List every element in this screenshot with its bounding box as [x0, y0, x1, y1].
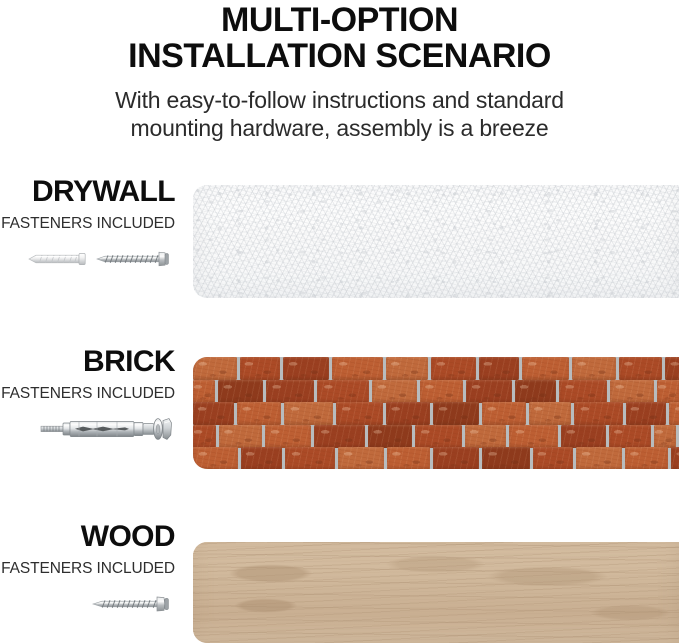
- brick-unit: [610, 380, 654, 403]
- brick-unit: [237, 402, 281, 425]
- brick-unit: [415, 425, 462, 448]
- brick-unit: [193, 402, 234, 425]
- wood-surface-panel: [193, 542, 679, 643]
- brick-unit: [572, 357, 616, 380]
- screw-icon: [95, 250, 173, 268]
- brick-unit: [626, 402, 666, 425]
- brick-unit: [368, 425, 412, 448]
- page-title: MULTI-OPTION INSTALLATION SCENARIO: [0, 2, 679, 74]
- brick-surface-panel: [193, 357, 679, 469]
- header-block: MULTI-OPTION INSTALLATION SCENARIO With …: [0, 0, 679, 142]
- brick-row: [193, 402, 679, 425]
- brick-unit: [665, 357, 679, 380]
- brick-unit: [240, 357, 280, 380]
- sleeve-anchor-bolt-icon: [39, 416, 173, 442]
- brick-unit: [576, 447, 622, 469]
- brick-unit: [671, 447, 679, 469]
- wood-title: WOOD: [0, 520, 175, 554]
- brick-unit: [522, 357, 570, 380]
- brick-unit: [241, 447, 282, 469]
- brick-row: [193, 447, 679, 469]
- brick-unit: [219, 425, 262, 448]
- drywall-texture: [193, 185, 679, 298]
- brick-unit: [218, 380, 263, 403]
- brick-unit: [193, 447, 238, 469]
- brick-unit: [338, 447, 385, 469]
- brick-unit: [314, 425, 366, 448]
- brick-unit: [465, 425, 506, 448]
- wood-fastener-row: [0, 589, 175, 619]
- drywall-title: DRYWALL: [0, 175, 175, 209]
- brick-unit: [574, 402, 623, 425]
- brick-unit: [285, 447, 334, 469]
- section-brick: BRICK FASTENERS INCLUDED: [0, 345, 679, 480]
- brick-unit: [265, 425, 311, 448]
- brick-unit: [433, 447, 479, 469]
- brick-fastener-row: [0, 414, 175, 444]
- drywall-fastener-row: [0, 244, 175, 274]
- brick-unit: [529, 402, 571, 425]
- brick-unit: [609, 425, 651, 448]
- brick-row: [193, 425, 679, 448]
- brick-unit: [479, 357, 518, 380]
- section-wood: WOOD FASTENERS INCLUDED: [0, 520, 679, 643]
- brick-unit: [386, 402, 429, 425]
- brick-unit: [509, 425, 557, 448]
- brick-row: [193, 380, 679, 403]
- brick-unit: [372, 380, 417, 403]
- section-drywall: DRYWALL FASTENERS INCLUDED: [0, 175, 679, 310]
- title-line-2: INSTALLATION SCENARIO: [0, 38, 679, 74]
- wood-fasteners-note: FASTENERS INCLUDED: [0, 559, 175, 578]
- wood-texture: [193, 542, 679, 643]
- brick-title: BRICK: [0, 345, 175, 379]
- brick-fasteners-note: FASTENERS INCLUDED: [0, 384, 175, 403]
- brick-unit: [669, 402, 679, 425]
- wall-anchor-icon: [27, 250, 89, 268]
- brick-unit: [654, 425, 676, 448]
- brick-unit: [561, 425, 606, 448]
- brick-unit: [193, 425, 216, 448]
- brick-unit: [466, 380, 513, 403]
- drywall-surface-panel: [193, 185, 679, 298]
- brick-label-column: BRICK FASTENERS INCLUDED: [0, 345, 178, 444]
- brick-unit: [559, 380, 607, 403]
- brick-unit: [482, 447, 530, 469]
- brick-texture: [193, 357, 679, 469]
- brick-unit: [657, 380, 679, 403]
- subtitle-line-1: With easy-to-follow instructions and sta…: [0, 86, 679, 114]
- brick-unit: [317, 380, 369, 403]
- brick-unit: [387, 447, 430, 469]
- brick-unit: [332, 357, 383, 380]
- subtitle-line-2: mounting hardware, assembly is a breeze: [0, 114, 679, 142]
- page-subtitle: With easy-to-follow instructions and sta…: [0, 86, 679, 142]
- brick-unit: [266, 380, 314, 403]
- brick-unit: [431, 357, 477, 380]
- brick-unit: [193, 357, 237, 380]
- brick-unit: [533, 447, 573, 469]
- brick-unit: [336, 402, 383, 425]
- brick-unit: [515, 380, 556, 403]
- brick-unit: [625, 447, 669, 469]
- drywall-label-column: DRYWALL FASTENERS INCLUDED: [0, 175, 178, 274]
- brick-unit: [193, 380, 215, 403]
- brick-row: [193, 357, 679, 380]
- screw-icon: [91, 595, 173, 613]
- brick-unit: [386, 357, 428, 380]
- brick-unit: [482, 402, 527, 425]
- brick-unit: [420, 380, 462, 403]
- drywall-fasteners-note: FASTENERS INCLUDED: [0, 214, 175, 233]
- wood-label-column: WOOD FASTENERS INCLUDED: [0, 520, 178, 619]
- brick-unit: [619, 357, 662, 380]
- brick-unit: [433, 402, 479, 425]
- brick-unit: [283, 357, 330, 380]
- brick-unit: [284, 402, 334, 425]
- title-line-1: MULTI-OPTION: [221, 1, 458, 39]
